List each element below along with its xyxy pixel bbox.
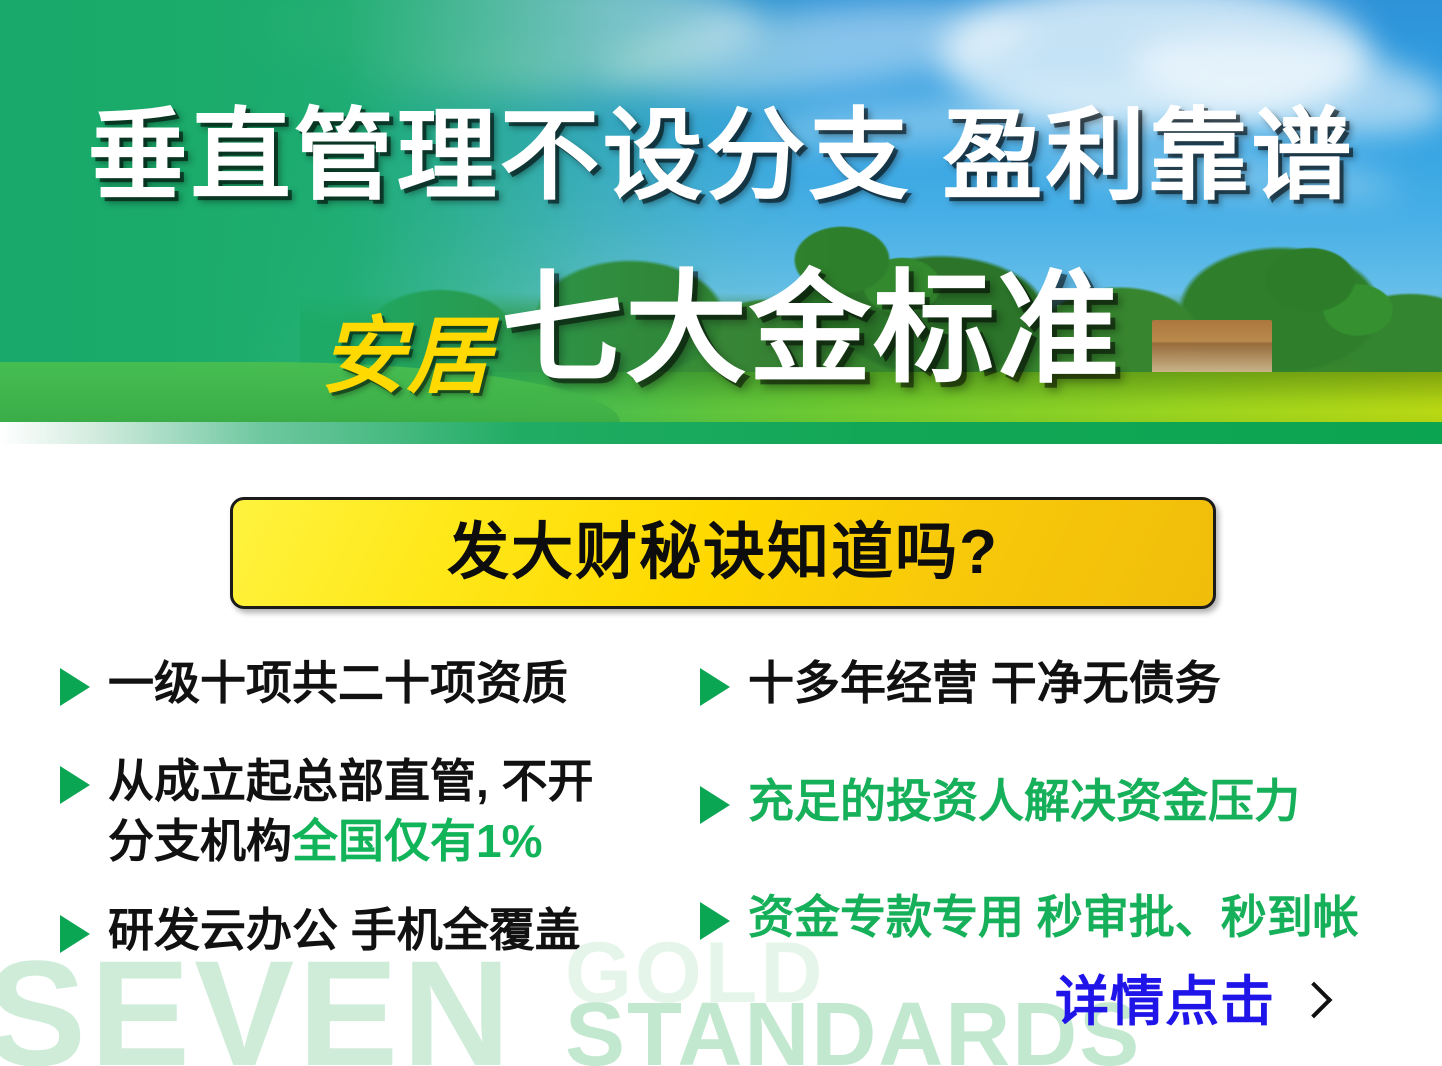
features-column-right: 十多年经营 干净无债务 充足的投资人解决资金压力 资金专款专用 秒审批、秒到帐 [700,654,1420,983]
hero-section: 垂直管理不设分支 盈利靠谱 安居七大金标准 [0,0,1442,462]
triangle-bullet-icon [60,915,90,953]
triangle-bullet-icon [700,786,730,824]
chevron-right-icon [1296,982,1333,1019]
triangle-bullet-icon [700,902,730,940]
triangle-bullet-icon [60,668,90,706]
feature-text: 从成立起总部直管, 不开 分支机构全国仅有1% [108,752,594,872]
highlight-banner-text: 发大财秘诀知道吗? [447,522,999,584]
hero-subheadline: 七大金标准 [501,268,1121,390]
feature-text-line2: 分支机构 [108,815,292,867]
feature-item: 资金专款专用 秒审批、秒到帐 [700,888,1420,948]
feature-text: 研发云办公 手机全覆盖 [108,901,581,961]
triangle-bullet-icon [60,766,90,804]
features-section: 一级十项共二十项资质 从成立起总部直管, 不开 分支机构全国仅有1% 研发云办公… [0,654,1442,984]
feature-text-highlight: 全国仅有1% [292,815,542,867]
feature-item: 从成立起总部直管, 不开 分支机构全国仅有1% [60,752,700,872]
highlight-banner[interactable]: 发大财秘诀知道吗? [230,497,1216,609]
triangle-bullet-icon [700,668,730,706]
feature-item: 一级十项共二十项资质 [60,654,700,714]
hero-headline: 垂直管理不设分支 盈利靠谱 [0,106,1442,206]
feature-text: 十多年经营 干净无债务 [748,654,1221,714]
hero-subheadline-row: 安居七大金标准 [0,268,1442,390]
details-cta-link[interactable]: 详情点击 [1055,975,1327,1029]
feature-item: 十多年经营 干净无债务 [700,654,1420,714]
details-cta-label: 详情点击 [1055,975,1275,1029]
hero-bottom-accent-bar [0,422,1442,444]
feature-text: 资金专款专用 秒审批、秒到帐 [748,888,1359,948]
feature-text: 充足的投资人解决资金压力 [748,772,1300,832]
feature-item: 研发云办公 手机全覆盖 [60,901,700,961]
hero-bottom-spacer [0,444,1442,462]
feature-text-line1: 从成立起总部直管, 不开 [108,755,594,807]
advertisement-banner: 垂直管理不设分支 盈利靠谱 安居七大金标准 发大财秘诀知道吗? 一级十项共二十项… [0,0,1442,1066]
feature-item: 充足的投资人解决资金压力 [700,772,1420,832]
brand-name: 安居 [321,314,493,398]
feature-text: 一级十项共二十项资质 [108,654,568,714]
features-column-left: 一级十项共二十项资质 从成立起总部直管, 不开 分支机构全国仅有1% 研发云办公… [60,654,700,997]
